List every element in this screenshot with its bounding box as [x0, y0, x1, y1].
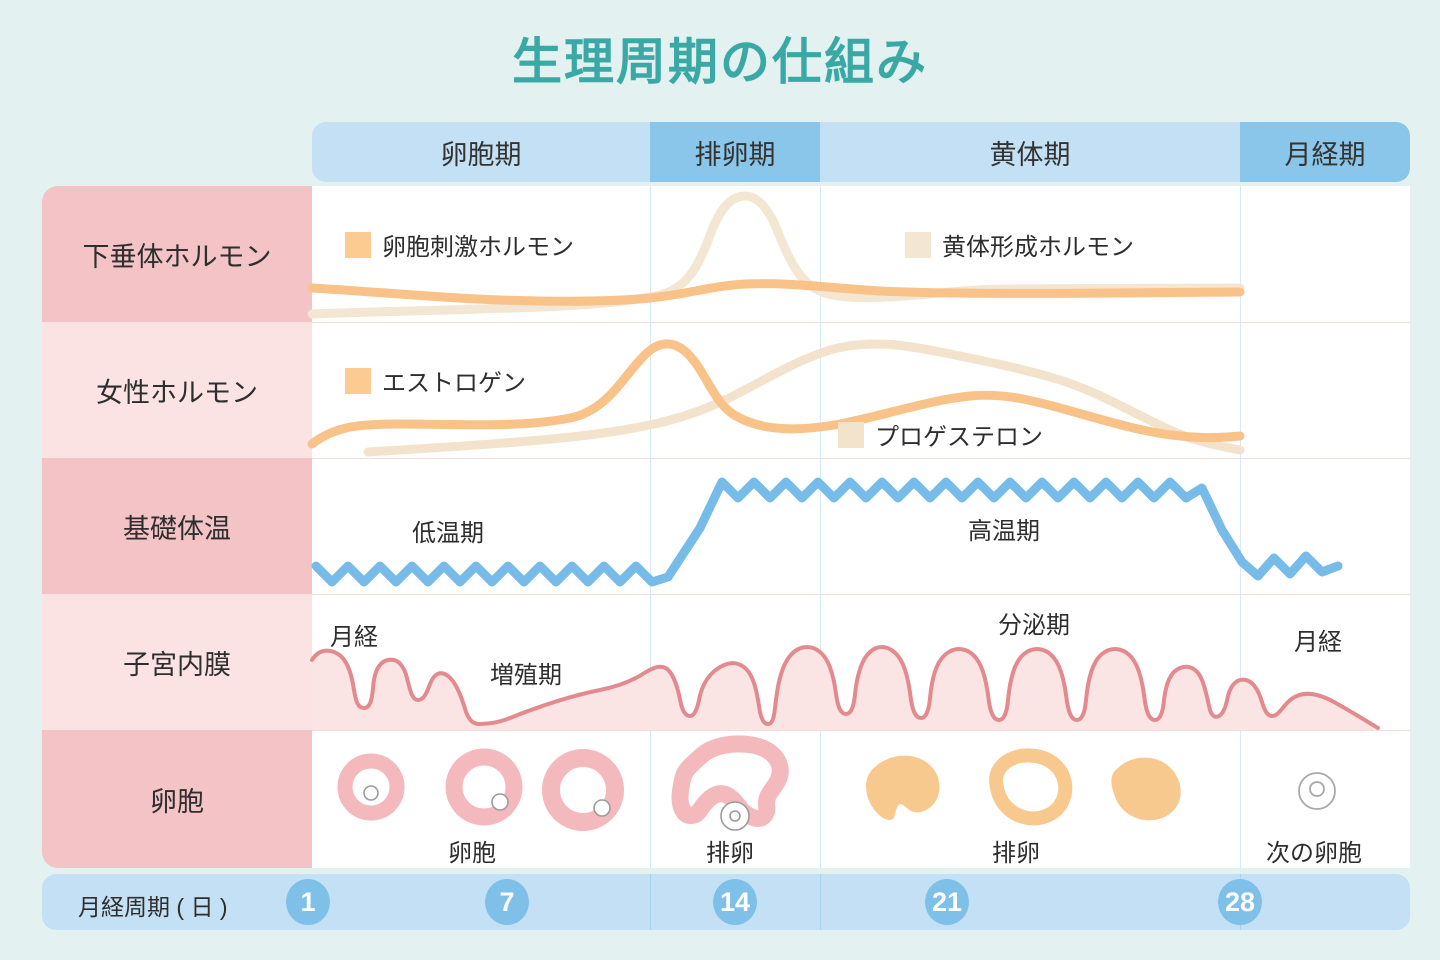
row-label-text: 女性ホルモン	[96, 371, 258, 410]
legend-swatch-estrogen-icon	[345, 368, 371, 394]
legend-estrogen: エストロゲン	[345, 363, 526, 398]
row-separator	[312, 730, 1410, 731]
row-label-endometrium: 子宮内膜	[42, 594, 312, 730]
caption-proliferative-phase: 増殖期	[490, 655, 562, 690]
legend-label-lh: 黄体形成ホルモン	[942, 227, 1134, 262]
caption-menstruation-left: 月経	[330, 617, 378, 652]
phase-header-menstrual: 月経期	[1240, 122, 1410, 182]
axis-tick-day-11	[650, 874, 651, 930]
phase-label: 排卵期	[695, 133, 776, 172]
phase-label: 月経期	[1285, 133, 1366, 172]
caption-next-follicle: 次の卵胞	[1266, 833, 1362, 868]
legend-swatch-fsh-icon	[345, 232, 371, 258]
day-marker-28: 28	[1218, 879, 1262, 925]
legend-swatch-progesterone-icon	[838, 422, 864, 448]
axis-title: 月経周期 ( 日 )	[78, 888, 228, 922]
phase-header-bar: 卵胞期 排卵期 黄体期 月経期	[312, 122, 1410, 182]
row-label-text: 基礎体温	[123, 507, 231, 546]
row-separator	[312, 458, 1410, 459]
legend-label-progesterone: プロゲステロン	[875, 417, 1043, 452]
caption-menstruation-right: 月経	[1294, 622, 1342, 657]
row-separator	[312, 594, 1410, 595]
phase-header-follicular: 卵胞期	[312, 122, 650, 182]
caption-high-temperature-phase: 高温期	[968, 511, 1040, 546]
day-marker-21: 21	[925, 879, 969, 925]
infographic-root: 生理周期の仕組み 卵胞期 排卵期 黄体期 月経期 下垂体ホルモン 女性ホルモン …	[0, 0, 1440, 960]
gridline-day-11	[650, 186, 651, 868]
day-marker-1: 1	[286, 879, 330, 925]
row-label-basal-body-temperature: 基礎体温	[42, 458, 312, 594]
row-label-text: 卵胞	[150, 780, 204, 819]
page-title: 生理周期の仕組み	[0, 22, 1440, 94]
row-label-female-hormone: 女性ホルモン	[42, 322, 312, 458]
legend-swatch-lh-icon	[905, 232, 931, 258]
caption-ovulation-orange: 排卵	[992, 833, 1040, 868]
caption-secretory-phase: 分泌期	[998, 605, 1070, 640]
legend-label-fsh: 卵胞刺激ホルモン	[382, 227, 574, 262]
caption-follicle: 卵胞	[448, 833, 496, 868]
gridline-day-15	[820, 186, 821, 868]
row-label-pituitary-hormone: 下垂体ホルモン	[42, 186, 312, 322]
gridline-day-25	[1240, 186, 1241, 868]
row-label-follicle: 卵胞	[42, 730, 312, 868]
phase-header-ovulation: 排卵期	[650, 122, 820, 182]
phase-header-luteal: 黄体期	[820, 122, 1240, 182]
day-marker-7: 7	[485, 879, 529, 925]
phase-label: 卵胞期	[441, 133, 522, 172]
legend-progesterone: プロゲステロン	[838, 417, 1043, 452]
caption-ovulation-pink: 排卵	[706, 833, 754, 868]
phase-label: 黄体期	[990, 133, 1071, 172]
caption-low-temperature-phase: 低温期	[412, 513, 484, 548]
row-label-text: 子宮内膜	[123, 643, 231, 682]
legend-lh: 黄体形成ホルモン	[905, 227, 1134, 262]
row-label-text: 下垂体ホルモン	[83, 235, 272, 274]
legend-fsh: 卵胞刺激ホルモン	[345, 227, 574, 262]
day-marker-14: 14	[713, 879, 757, 925]
legend-label-estrogen: エストロゲン	[382, 363, 526, 398]
row-separator	[312, 322, 1410, 323]
axis-tick-day-15	[820, 874, 821, 930]
